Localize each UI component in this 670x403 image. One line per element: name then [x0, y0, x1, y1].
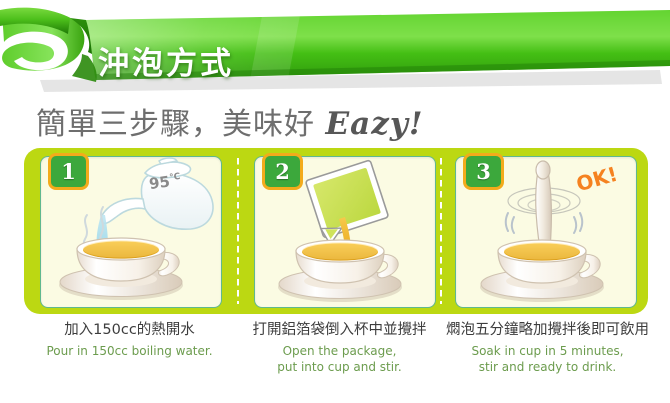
step-caption-2: 打開鋁箔袋倒入杯中並攪拌 Open the package, put into …: [232, 320, 447, 375]
step-badge-3: 3: [463, 153, 504, 190]
caption-english-line: Soak in cup in 5 minutes,: [430, 343, 665, 359]
caption-chinese: 加入150cc的熱開水: [22, 320, 237, 340]
caption-english-line: put into cup and stir.: [232, 359, 447, 375]
ribbon-header: 沖泡方式: [0, 4, 670, 96]
subtitle-chinese: 簡單三步驟，美味好: [36, 107, 315, 142]
infographic-page: 沖泡方式 簡單三步驟，美味好 Eazy!: [0, 0, 670, 403]
caption-chinese: 打開鋁箔袋倒入杯中並攪拌: [232, 320, 447, 340]
subtitle-emphasis: Eazy!: [326, 106, 424, 142]
caption-chinese: 燜泡五分鐘略加攪拌後即可飲用: [430, 320, 665, 340]
step-divider-2: [440, 158, 442, 304]
subtitle: 簡單三步驟，美味好 Eazy!: [36, 99, 424, 143]
step-caption-1: 加入150cc的熱開水 Pour in 150cc boiling water.: [22, 320, 237, 359]
step-divider-1: [237, 158, 239, 304]
temperature-value: 95: [148, 172, 171, 193]
page-title: 沖泡方式: [98, 38, 234, 83]
caption-english-line: stir and ready to drink.: [430, 359, 665, 375]
temperature-unit: °C: [169, 172, 181, 183]
caption-english-line: Pour in 150cc boiling water.: [22, 343, 237, 359]
step-caption-3: 燜泡五分鐘略加攪拌後即可飲用 Soak in cup in 5 minutes,…: [430, 320, 665, 375]
step-badge-1: 1: [48, 153, 89, 190]
step-badge-2: 2: [262, 153, 303, 190]
caption-english-line: Open the package,: [232, 343, 447, 359]
